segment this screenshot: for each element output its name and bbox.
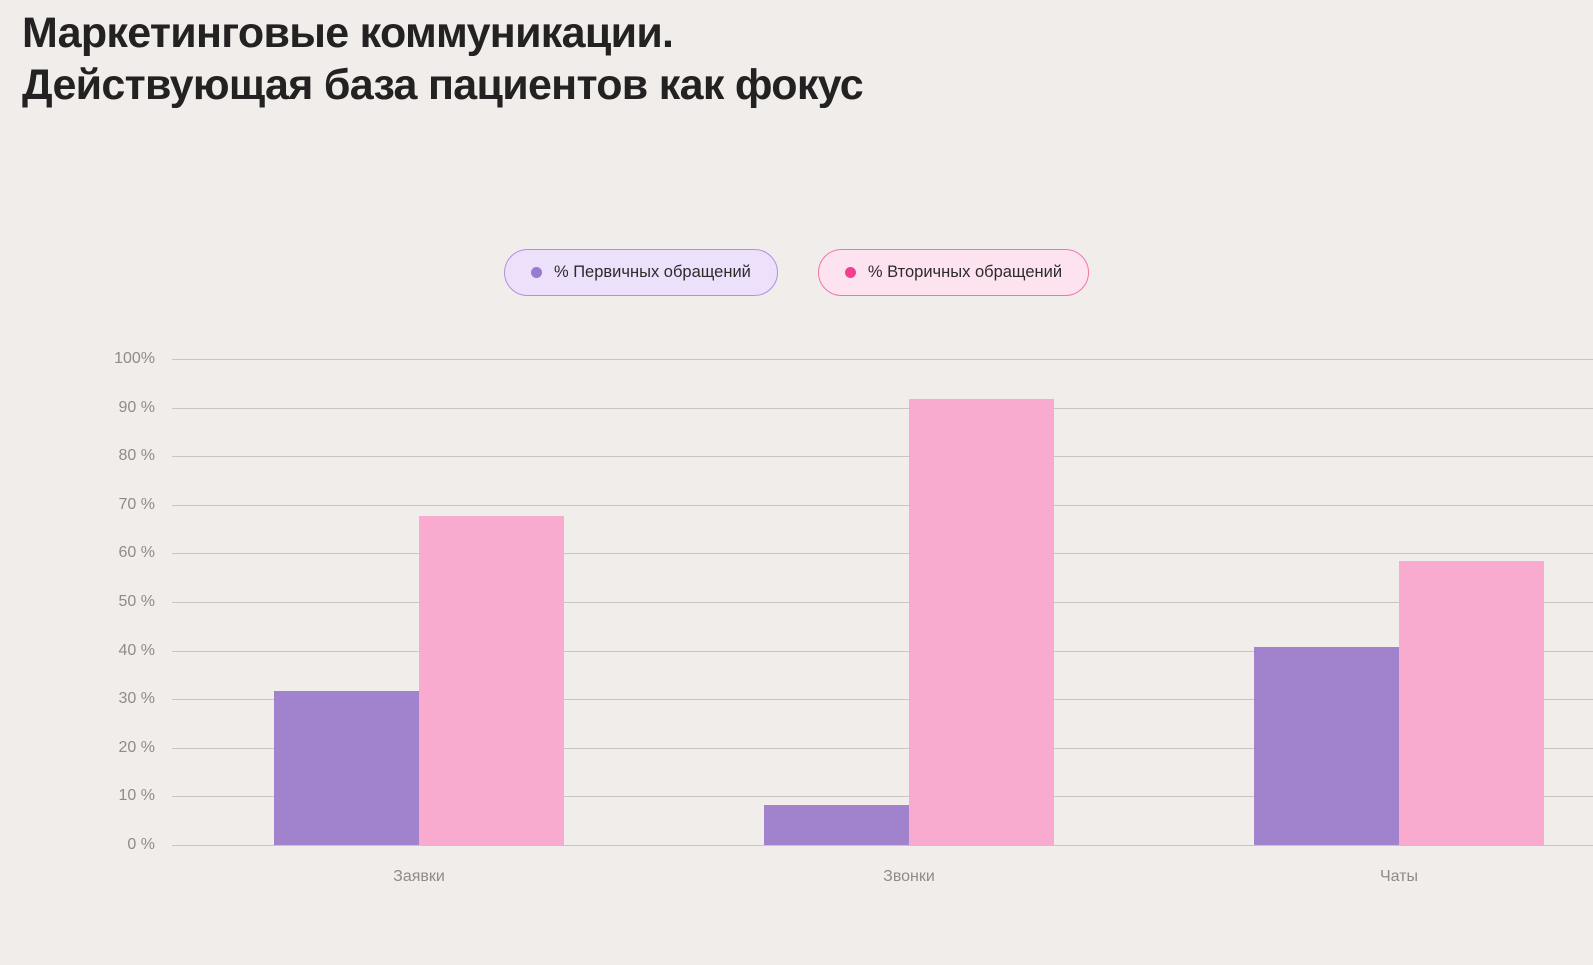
y-axis-tick-label: 100%	[114, 350, 155, 368]
y-axis-tick-label: 10 %	[119, 787, 155, 805]
gridline	[172, 845, 1593, 846]
y-axis-tick-label: 60 %	[119, 544, 155, 562]
y-axis-tick-label: 20 %	[119, 739, 155, 757]
y-axis-tick-label: 30 %	[119, 690, 155, 708]
chart-bars	[172, 359, 1593, 845]
y-axis-tick-label: 70 %	[119, 496, 155, 514]
y-axis-tick-label: 40 %	[119, 642, 155, 660]
bar-primary-2[interactable]	[1254, 647, 1399, 845]
bar-secondary-0[interactable]	[419, 516, 564, 846]
x-axis-tick-label: Звонки	[883, 868, 935, 886]
x-axis-tick-label: Чаты	[1380, 868, 1418, 886]
bar-secondary-1[interactable]	[909, 399, 1054, 845]
bar-chart: 100%90 %80 %70 %60 %50 %40 %30 %20 %10 %…	[0, 0, 1593, 965]
bar-primary-0[interactable]	[274, 691, 419, 845]
y-axis-tick-label: 50 %	[119, 593, 155, 611]
y-axis-tick-label: 90 %	[119, 399, 155, 417]
bar-secondary-2[interactable]	[1399, 561, 1544, 845]
y-axis-tick-label: 0 %	[127, 836, 155, 854]
y-axis-tick-label: 80 %	[119, 447, 155, 465]
x-axis-tick-label: Заявки	[393, 868, 445, 886]
bar-primary-1[interactable]	[764, 805, 909, 845]
